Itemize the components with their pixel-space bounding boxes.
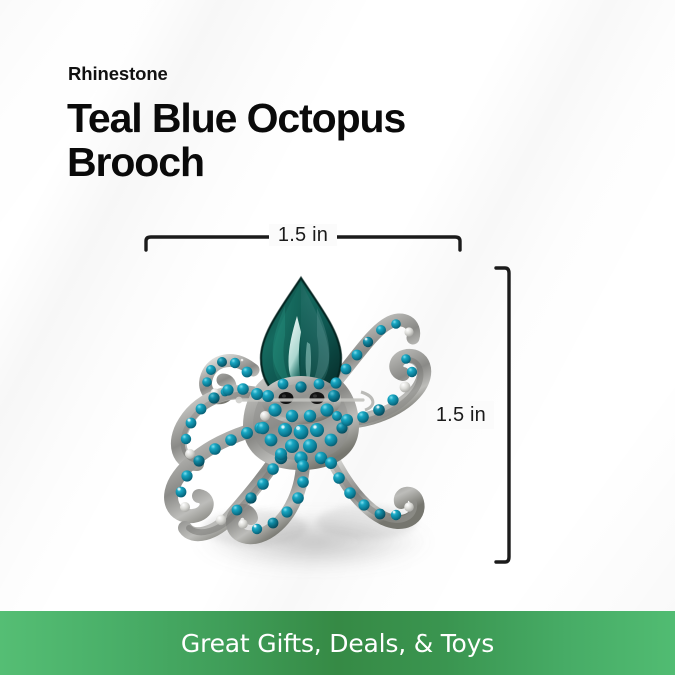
height-bracket-icon	[494, 265, 516, 565]
footer-tagline: Great Gifts, Deals, & Toys	[181, 629, 494, 658]
left-eye-icon	[279, 392, 294, 404]
width-dimension-label: 1.5 in	[269, 224, 337, 246]
octopus-brooch-illustration	[135, 250, 480, 580]
width-dimension-label-wrap: 1.5 in	[143, 224, 463, 247]
product-image	[135, 250, 480, 580]
product-material-eyebrow: Rhinestone	[68, 64, 168, 84]
height-dimension-bracket	[494, 265, 516, 565]
product-listing-image: Rhinestone Teal Blue Octopus Brooch 1.5 …	[0, 0, 675, 675]
page-title: Teal Blue Octopus Brooch	[67, 96, 497, 185]
footer-banner: Great Gifts, Deals, & Toys	[0, 611, 675, 675]
right-eye-icon	[310, 392, 325, 404]
